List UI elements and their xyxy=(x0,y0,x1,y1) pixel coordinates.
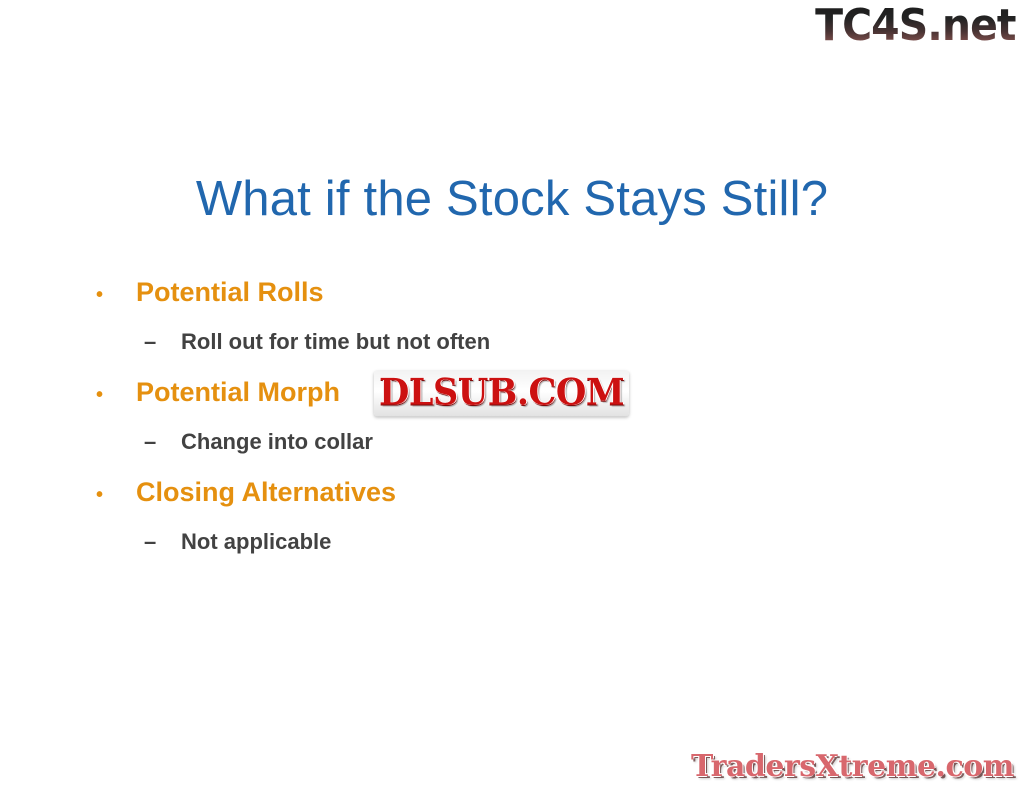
sub-bullet-item-not-applicable: – Not applicable xyxy=(96,523,896,561)
dash-marker-icon: – xyxy=(144,523,181,561)
bullet-item-closing-alternatives: • Closing Alternatives xyxy=(96,472,896,515)
slide-title: What if the Stock Stays Still? xyxy=(0,169,1024,229)
slide-canvas: TC4S.net What if the Stock Stays Still? … xyxy=(0,0,1024,791)
bullet-marker-icon: • xyxy=(96,375,136,415)
bullet-label: Potential Morph xyxy=(136,372,340,412)
bullet-marker-icon: • xyxy=(96,475,136,515)
bullet-label: Closing Alternatives xyxy=(136,472,396,512)
sub-bullet-item-change-into-collar: – Change into collar xyxy=(96,423,896,461)
sub-bullet-label: Roll out for time but not often xyxy=(181,323,490,361)
dlsub-watermark: DLSUB.COM xyxy=(374,371,629,416)
bullet-marker-icon: • xyxy=(96,275,136,315)
tradersxtreme-watermark: TradersXtreme.com xyxy=(691,749,1014,785)
sub-bullet-label: Change into collar xyxy=(181,423,373,461)
tc4s-logo: TC4S.net xyxy=(816,2,1016,50)
bullet-list: • Potential Rolls – Roll out for time bu… xyxy=(96,272,896,561)
bullet-item-potential-rolls: • Potential Rolls xyxy=(96,272,896,315)
dash-marker-icon: – xyxy=(144,423,181,461)
sub-bullet-item-roll-out: – Roll out for time but not often xyxy=(96,323,896,361)
dash-marker-icon: – xyxy=(144,323,181,361)
bullet-group: • Closing Alternatives – Not applicable xyxy=(96,472,896,561)
bullet-label: Potential Rolls xyxy=(136,272,324,312)
sub-bullet-label: Not applicable xyxy=(181,523,331,561)
bullet-group: • Potential Rolls – Roll out for time bu… xyxy=(96,272,896,361)
